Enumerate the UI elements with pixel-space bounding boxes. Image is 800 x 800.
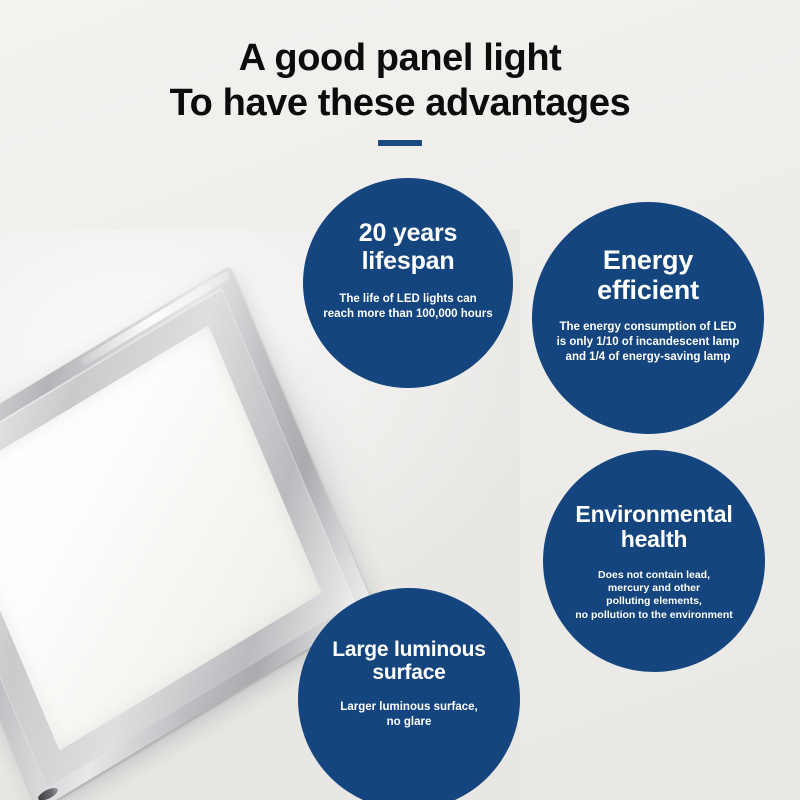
feature-title-lifespan: 20 years lifespan xyxy=(359,220,458,275)
feature-title-line-2: health xyxy=(575,527,732,552)
feature-title-line-1: Energy xyxy=(597,246,699,276)
feature-title-line-1: Large luminous xyxy=(332,638,486,661)
feature-bubble-environment[interactable]: Environmental health Does not contain le… xyxy=(543,450,765,672)
feature-body-line-4: no pollution to the environment xyxy=(575,609,733,622)
feature-title-line-1: 20 years xyxy=(359,220,458,248)
feature-body-lifespan: The life of LED lights can reach more th… xyxy=(323,292,492,321)
feature-body-line-2: mercury and other xyxy=(575,582,733,595)
feature-body-energy: The energy consumption of LED is only 1/… xyxy=(557,320,740,364)
feature-body-surface: Larger luminous surface, no glare xyxy=(340,700,477,729)
poster-canvas: A good panel light To have these advanta… xyxy=(0,0,800,800)
page-title-line-2: To have these advantages xyxy=(0,81,800,126)
feature-title-surface: Large luminous surface xyxy=(332,638,486,684)
feature-bubble-lifespan[interactable]: 20 years lifespan The life of LED lights… xyxy=(303,178,513,388)
feature-body-line-2: is only 1/10 of incandescent lamp xyxy=(557,335,740,350)
page-title: A good panel light To have these advanta… xyxy=(0,36,800,146)
feature-body-line-2: no glare xyxy=(340,715,477,730)
frame-corner-notch xyxy=(37,785,59,800)
feature-body-line-1: Larger luminous surface, xyxy=(340,700,477,715)
feature-body-environment: Does not contain lead, mercury and other… xyxy=(575,569,733,623)
feature-title-line-2: efficient xyxy=(597,276,699,306)
feature-bubble-energy[interactable]: Energy efficient The energy consumption … xyxy=(532,202,764,434)
feature-title-line-1: Environmental xyxy=(575,502,732,527)
feature-bubble-surface[interactable]: Large luminous surface Larger luminous s… xyxy=(298,588,520,800)
feature-body-line-3: polluting elements, xyxy=(575,595,733,608)
feature-body-line-2: reach more than 100,000 hours xyxy=(323,307,492,322)
title-underline-rule xyxy=(378,140,422,146)
feature-title-energy: Energy efficient xyxy=(597,246,699,305)
feature-body-line-1: The life of LED lights can xyxy=(323,292,492,307)
feature-title-environment: Environmental health xyxy=(575,502,732,553)
feature-title-line-2: surface xyxy=(332,661,486,684)
feature-body-line-3: and 1/4 of energy-saving lamp xyxy=(557,350,740,365)
feature-body-line-1: The energy consumption of LED xyxy=(557,320,740,335)
feature-title-line-2: lifespan xyxy=(359,248,458,276)
feature-body-line-1: Does not contain lead, xyxy=(575,569,733,582)
page-title-line-1: A good panel light xyxy=(0,36,800,81)
